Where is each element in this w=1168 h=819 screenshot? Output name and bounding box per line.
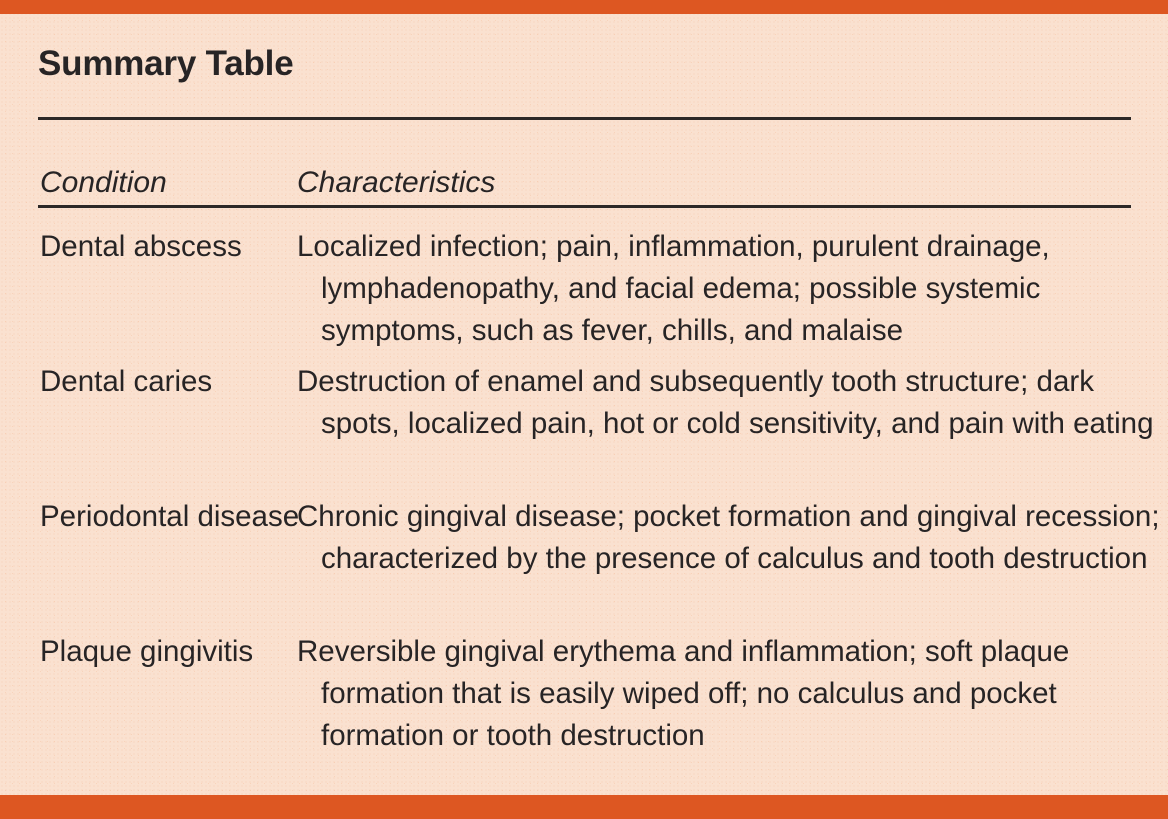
table-row: Dental caries Destruction of enamel and … bbox=[0, 361, 1168, 496]
cell-condition: Plaque gingivitis bbox=[40, 631, 314, 673]
table-content: Summary Table Condition Characteristics … bbox=[0, 14, 1168, 795]
cell-characteristics: Chronic gingival disease; pocket formati… bbox=[297, 496, 1166, 580]
table-body: Dental abscess Localized infection; pain… bbox=[0, 226, 1168, 766]
header-divider bbox=[38, 205, 1131, 208]
cell-characteristics: Reversible gingival erythema and inflamm… bbox=[297, 631, 1166, 757]
table-row: Dental abscess Localized infection; pain… bbox=[0, 226, 1168, 361]
table-row: Periodontal disease Chronic gingival dis… bbox=[0, 496, 1168, 631]
cell-condition: Dental caries bbox=[40, 361, 314, 403]
summary-table-page: Summary Table Condition Characteristics … bbox=[0, 0, 1168, 819]
column-header-condition: Condition bbox=[40, 166, 167, 200]
top-accent-bar bbox=[0, 0, 1168, 14]
cell-characteristics: Localized infection; pain, inflammation,… bbox=[297, 226, 1166, 352]
table-row: Plaque gingivitis Reversible gingival er… bbox=[0, 631, 1168, 766]
cell-condition: Periodontal disease bbox=[40, 496, 314, 538]
cell-characteristics: Destruction of enamel and subsequently t… bbox=[297, 361, 1166, 445]
title-divider bbox=[38, 117, 1131, 120]
page-title: Summary Table bbox=[38, 44, 293, 84]
column-header-characteristics: Characteristics bbox=[297, 166, 495, 200]
cell-condition: Dental abscess bbox=[40, 226, 314, 268]
bottom-accent-bar bbox=[0, 795, 1168, 819]
